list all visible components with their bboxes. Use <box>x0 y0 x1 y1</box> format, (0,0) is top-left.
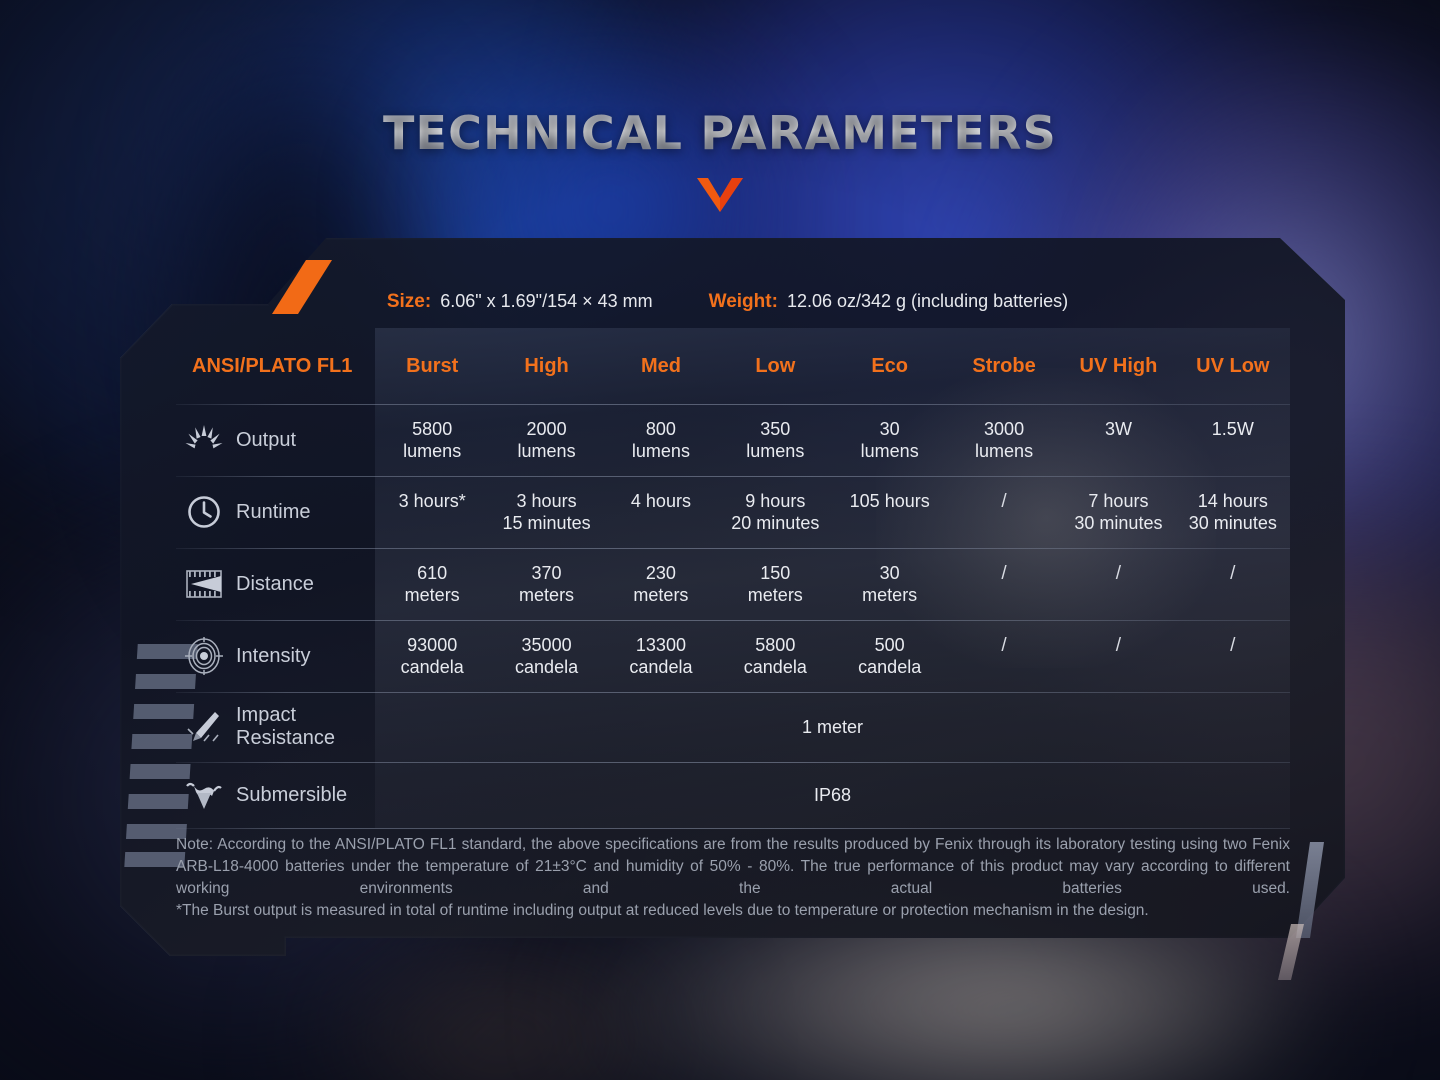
footnote-block: Note: According to the ANSI/PLATO FL1 st… <box>176 834 1290 922</box>
cell-line1: 150 <box>760 563 790 583</box>
cell-line2: 15 minutes <box>489 512 603 535</box>
header-row-label-cell: ANSI/PLATO FL1 <box>176 355 375 378</box>
cell-intensity-strobe: / <box>947 634 1061 679</box>
cell-line1: 93000 <box>407 635 457 655</box>
cell-runtime-eco: 105 hours <box>833 490 947 535</box>
cell-line1: 7 hours <box>1088 491 1148 511</box>
row-label-submersible: Submersible <box>236 784 347 807</box>
row-label-impact: Impact Resistance <box>236 704 335 750</box>
page-title: TECHNICAL PARAMETERS <box>383 106 1057 160</box>
cell-runtime-low: 9 hours20 minutes <box>718 490 832 535</box>
cell-line2: meters <box>718 584 832 607</box>
row-label-impact-line1: Impact <box>236 704 296 726</box>
cell-distance-burst: 610meters <box>375 562 489 607</box>
cell-line1: / <box>1001 491 1006 512</box>
cell-line1: 35000 <box>522 635 572 655</box>
cell-distance-high: 370meters <box>489 562 603 607</box>
ansi-plato-label: ANSI/PLATO FL1 <box>184 355 352 378</box>
cell-runtime-strobe: / <box>947 490 1061 535</box>
table-row: Distance 610meters 370meters 230meters 1… <box>176 548 1290 620</box>
cell-line1: 14 hours <box>1198 491 1268 511</box>
cell-intensity-eco: 500candela <box>833 634 947 679</box>
cell-intensity-uv-low: / <box>1176 634 1290 679</box>
cell-runtime-uv-low: 14 hours30 minutes <box>1176 490 1290 535</box>
cell-line1: 500 <box>875 635 905 655</box>
cell-line1: 13300 <box>636 635 686 655</box>
row-label-cell-intensity: Intensity <box>176 636 375 676</box>
cell-output-strobe: 3000lumens <box>947 418 1061 463</box>
cell-line1: / <box>1230 563 1235 584</box>
row-values-distance: 610meters 370meters 230meters 150meters … <box>375 562 1290 607</box>
cell-line2: lumens <box>375 440 489 463</box>
cell-output-uv-low: 1.5W <box>1176 418 1290 463</box>
cell-line1: 5800 <box>755 635 795 655</box>
cell-submersible-value: IP68 <box>375 785 1290 806</box>
cell-line2: candela <box>489 656 603 679</box>
column-header-strobe: Strobe <box>947 354 1061 379</box>
cell-intensity-burst: 93000candela <box>375 634 489 679</box>
cell-distance-uv-low: / <box>1176 562 1290 607</box>
cell-line2: lumens <box>489 440 603 463</box>
table-row: Runtime 3 hours* 3 hours15 minutes 4 hou… <box>176 476 1290 548</box>
cell-intensity-uv-high: / <box>1061 634 1175 679</box>
row-values-impact: 1 meter <box>375 717 1290 738</box>
row-divider <box>176 828 1290 829</box>
cell-distance-eco: 30meters <box>833 562 947 607</box>
water-droplet-icon <box>184 775 224 815</box>
table-row: Impact Resistance 1 meter <box>176 692 1290 762</box>
cell-line1: 1.5W <box>1212 419 1254 439</box>
cell-output-uv-high: 3W <box>1061 418 1175 463</box>
table-header-row: ANSI/PLATO FL1 Burst High Med Low Eco St… <box>176 328 1290 404</box>
footnote-line-2: *The Burst output is measured in total o… <box>176 900 1290 922</box>
page-title-wrap: TECHNICAL PARAMETERS <box>0 106 1440 160</box>
cell-line1: 230 <box>646 563 676 583</box>
row-label-runtime: Runtime <box>236 501 310 524</box>
cell-output-high: 2000lumens <box>489 418 603 463</box>
cell-intensity-low: 5800candela <box>718 634 832 679</box>
cell-line2: candela <box>833 656 947 679</box>
cell-line1: 3W <box>1105 419 1132 439</box>
row-values-runtime: 3 hours* 3 hours15 minutes 4 hours 9 hou… <box>375 490 1290 535</box>
row-label-output: Output <box>236 429 296 452</box>
cell-runtime-burst: 3 hours* <box>375 490 489 535</box>
cell-line2: meters <box>604 584 718 607</box>
row-label-cell-runtime: Runtime <box>176 492 375 532</box>
column-header-eco: Eco <box>833 354 947 379</box>
weight-value: 12.06 oz/342 g (including batteries) <box>787 291 1068 312</box>
cell-line2: 30 minutes <box>1176 512 1290 535</box>
table-row: Output 5800lumens 2000lumens 800lumens 3… <box>176 404 1290 476</box>
cell-line1: 370 <box>532 563 562 583</box>
column-header-high: High <box>489 354 603 379</box>
weight-spec: Weight: 12.06 oz/342 g (including batter… <box>709 291 1069 313</box>
column-header-uv-high: UV High <box>1061 354 1175 379</box>
sun-burst-icon <box>184 420 224 460</box>
row-label-cell-distance: Distance <box>176 564 375 604</box>
cell-line2: lumens <box>604 440 718 463</box>
cell-line1: 2000 <box>527 419 567 439</box>
row-values-submersible: IP68 <box>375 785 1290 806</box>
cell-output-low: 350lumens <box>718 418 832 463</box>
footnote-line-1: Note: According to the ANSI/PLATO FL1 st… <box>176 834 1290 900</box>
spec-panel: Size: 6.06" x 1.69"/154 × 43 mm Weight: … <box>110 238 1345 956</box>
cell-line1: 5800 <box>412 419 452 439</box>
row-label-impact-line2: Resistance <box>236 727 335 749</box>
size-value: 6.06" x 1.69"/154 × 43 mm <box>440 291 652 312</box>
beam-distance-ruler-icon <box>184 564 224 604</box>
cell-line2: 30 minutes <box>1061 512 1175 535</box>
row-label-cell-submersible: Submersible <box>176 775 375 815</box>
cell-runtime-high: 3 hours15 minutes <box>489 490 603 535</box>
target-intensity-icon <box>184 636 224 676</box>
cell-output-eco: 30lumens <box>833 418 947 463</box>
cell-line1: 4 hours <box>631 491 691 511</box>
cell-line1: / <box>1001 635 1006 656</box>
cell-line1: 610 <box>417 563 447 583</box>
row-label-distance: Distance <box>236 573 314 596</box>
cell-line1: 9 hours <box>745 491 805 511</box>
cell-line1: 800 <box>646 419 676 439</box>
header-columns: Burst High Med Low Eco Strobe UV High UV… <box>375 354 1290 379</box>
cell-line2: candela <box>718 656 832 679</box>
cell-distance-uv-high: / <box>1061 562 1175 607</box>
row-values-output: 5800lumens 2000lumens 800lumens 350lumen… <box>375 418 1290 463</box>
cell-distance-strobe: / <box>947 562 1061 607</box>
clock-icon <box>184 492 224 532</box>
column-header-low: Low <box>718 354 832 379</box>
cell-output-med: 800lumens <box>604 418 718 463</box>
cell-intensity-med: 13300candela <box>604 634 718 679</box>
table-row: Intensity 93000candela 35000candela 1330… <box>176 620 1290 692</box>
column-header-burst: Burst <box>375 354 489 379</box>
row-values-intensity: 93000candela 35000candela 13300candela 5… <box>375 634 1290 679</box>
row-label-intensity: Intensity <box>236 645 310 668</box>
size-weight-strip: Size: 6.06" x 1.69"/154 × 43 mm Weight: … <box>110 278 1345 326</box>
cell-line2: 20 minutes <box>718 512 832 535</box>
cell-line1: 105 hours <box>850 491 930 511</box>
weight-label: Weight: <box>709 291 778 313</box>
cell-line2: candela <box>375 656 489 679</box>
cell-line1: 30 <box>880 563 900 583</box>
cell-line1: / <box>1230 635 1235 656</box>
cell-line1: 3000 <box>984 419 1024 439</box>
table-row: Submersible IP68 <box>176 762 1290 828</box>
impact-drop-icon <box>184 707 224 747</box>
cell-runtime-uv-high: 7 hours30 minutes <box>1061 490 1175 535</box>
row-label-cell-output: Output <box>176 420 375 460</box>
cell-line2: lumens <box>718 440 832 463</box>
size-label: Size: <box>387 291 431 313</box>
chevron-down-icon <box>0 178 1440 217</box>
size-spec: Size: 6.06" x 1.69"/154 × 43 mm <box>387 291 653 313</box>
cell-line2: meters <box>489 584 603 607</box>
cell-line2: lumens <box>947 440 1061 463</box>
cell-line2: candela <box>604 656 718 679</box>
cell-line2: meters <box>375 584 489 607</box>
cell-output-burst: 5800lumens <box>375 418 489 463</box>
column-header-med: Med <box>604 354 718 379</box>
cell-line1: 3 hours* <box>399 491 466 511</box>
cell-line1: / <box>1001 563 1006 584</box>
cell-line2: meters <box>833 584 947 607</box>
specs-table: ANSI/PLATO FL1 Burst High Med Low Eco St… <box>176 328 1290 828</box>
cell-impact-value: 1 meter <box>375 717 1290 738</box>
row-label-cell-impact: Impact Resistance <box>176 704 375 750</box>
cell-distance-low: 150meters <box>718 562 832 607</box>
cell-line1: 3 hours <box>517 491 577 511</box>
cell-distance-med: 230meters <box>604 562 718 607</box>
column-header-uv-low: UV Low <box>1176 354 1290 379</box>
cell-line2: lumens <box>833 440 947 463</box>
cell-line1: 30 <box>880 419 900 439</box>
cell-runtime-med: 4 hours <box>604 490 718 535</box>
cell-line1: 350 <box>760 419 790 439</box>
cell-line1: / <box>1116 635 1121 656</box>
cell-line1: / <box>1116 563 1121 584</box>
cell-intensity-high: 35000candela <box>489 634 603 679</box>
